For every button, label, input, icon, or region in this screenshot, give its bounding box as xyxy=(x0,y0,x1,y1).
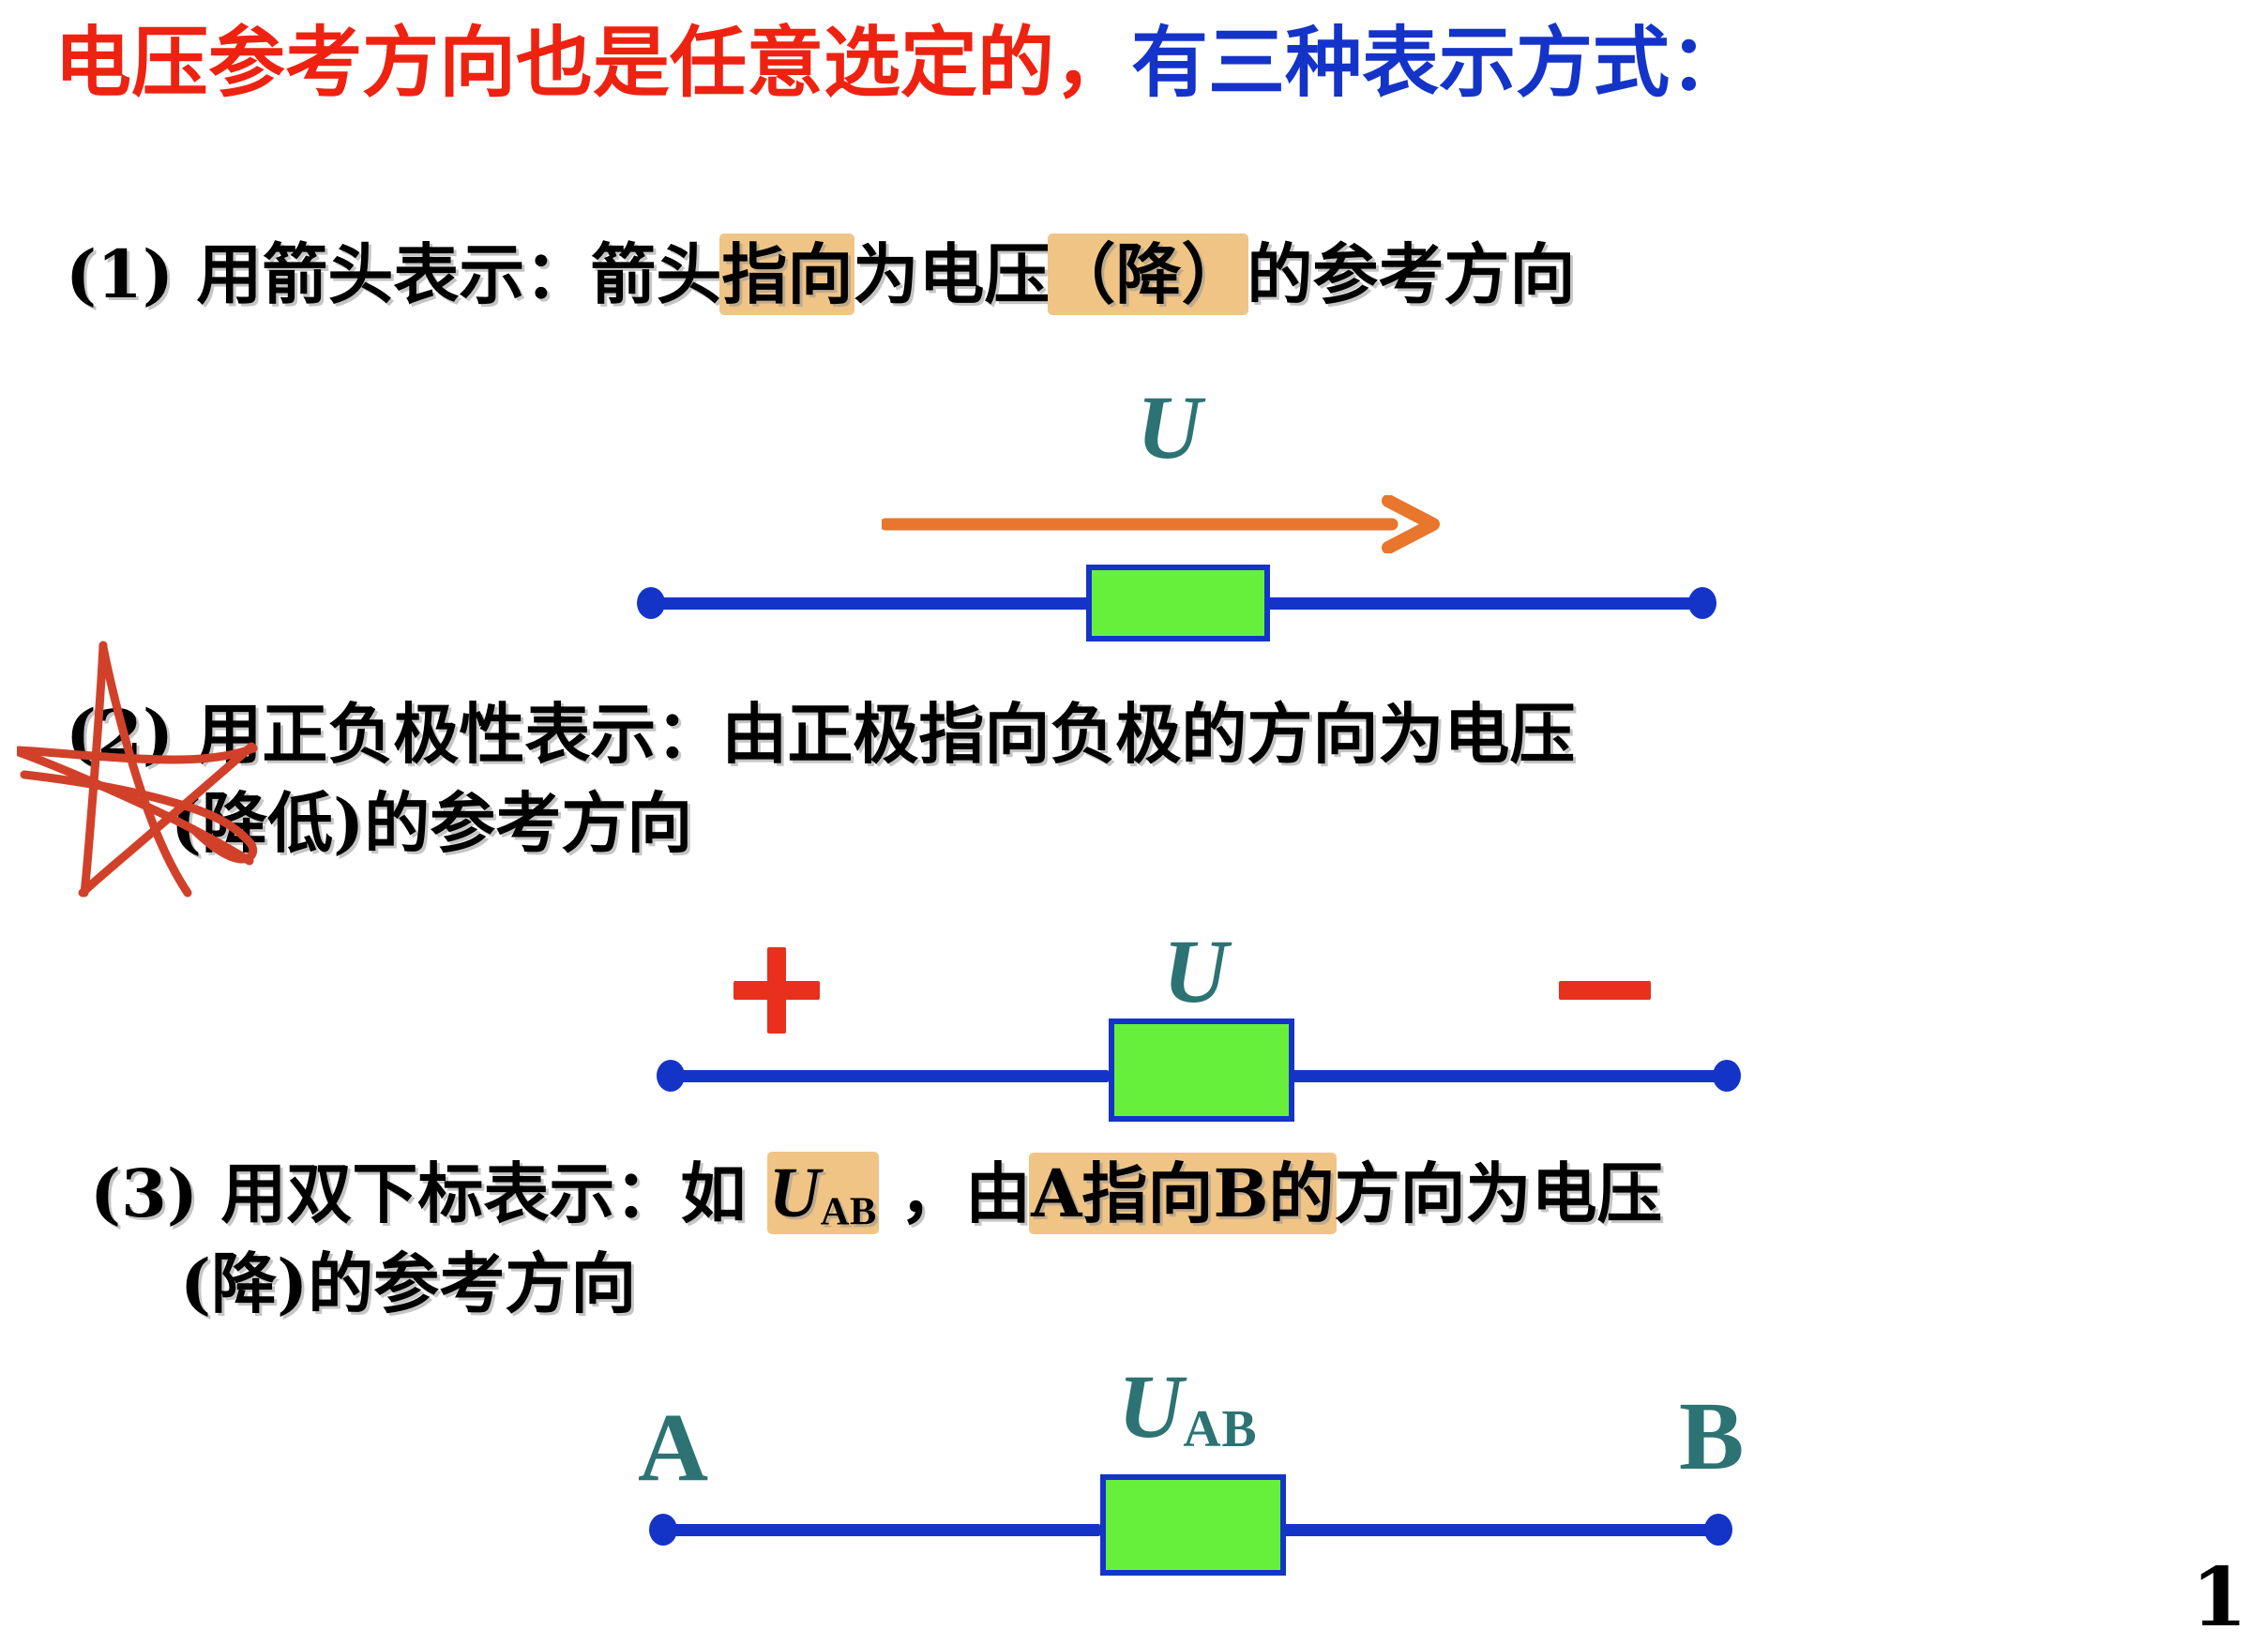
polarity-minus-icon xyxy=(1559,981,1651,1000)
wire-left-3 xyxy=(663,1524,1100,1536)
item-2-text-line2: (降低)的参考方向 xyxy=(171,785,1575,863)
terminal-label-a: A xyxy=(638,1399,708,1497)
item-1-text-post: 的参考方向 xyxy=(1247,235,1575,313)
item-1-marker: (1) xyxy=(66,235,174,313)
item-3-highlight-1: A指向B的 xyxy=(1031,1155,1334,1232)
voltage-label-uab: UAB xyxy=(1118,1362,1258,1456)
item-2-text-pre: 用正负极性表示：由正极指向负极的方向为电压 xyxy=(174,695,1575,773)
voltage-label-u2: U xyxy=(1163,927,1228,1017)
voltage-direction-arrow-icon xyxy=(882,495,1444,553)
item-3-text: (3) 用双下标表示：如 UAB ，由A指向B的方向为电压 (降)的参考方向 xyxy=(90,1152,1663,1322)
item-3-marker: (3) xyxy=(90,1155,198,1232)
page-number: 1 xyxy=(2191,1550,2247,1645)
terminal-node-right-1 xyxy=(1688,587,1716,619)
item-3-text-line2: (降)的参考方向 xyxy=(180,1245,1663,1323)
wire-right-3 xyxy=(1284,1524,1717,1536)
handdrawn-star-annotation-icon xyxy=(17,619,298,910)
wire-left-1 xyxy=(651,597,1088,610)
voltage-label-u1: U xyxy=(1137,383,1202,473)
terminal-label-b: B xyxy=(1679,1388,1744,1486)
item-1-text-mid: 为电压 xyxy=(853,235,1050,313)
item-1-text: (1) 用箭头表示：箭头指向为电压（降）的参考方向 xyxy=(66,236,1575,314)
resistor-box-1 xyxy=(1086,565,1270,641)
terminal-node-right-2 xyxy=(1713,1060,1741,1092)
title-blue-text: 有三种表示方式： xyxy=(1131,18,1746,108)
item-3-text-post: 方向为电压 xyxy=(1335,1155,1663,1232)
item-3-text-pre: 用双下标表示：如 xyxy=(198,1155,769,1232)
item-3-text-mid: ，由 xyxy=(877,1155,1031,1232)
terminal-node-right-3 xyxy=(1704,1514,1732,1546)
wire-right-1 xyxy=(1268,597,1701,610)
item-1-highlight-2: （降） xyxy=(1050,235,1247,313)
title-red-text: 电压参考方向也是任意选定的， xyxy=(54,18,1131,108)
slide-title: 电压参考方向也是任意选定的，有三种表示方式： xyxy=(54,23,2212,103)
wire-left-2 xyxy=(671,1070,1109,1082)
item-3-symbol-uab: UAB xyxy=(769,1154,877,1232)
item-1-highlight-1: 指向 xyxy=(721,235,853,313)
resistor-box-2 xyxy=(1109,1019,1294,1122)
item-1-text-pre: 用箭头表示：箭头 xyxy=(174,235,721,313)
polarity-plus-icon xyxy=(733,947,820,1034)
resistor-box-3 xyxy=(1100,1474,1286,1576)
wire-right-2 xyxy=(1293,1070,1726,1082)
